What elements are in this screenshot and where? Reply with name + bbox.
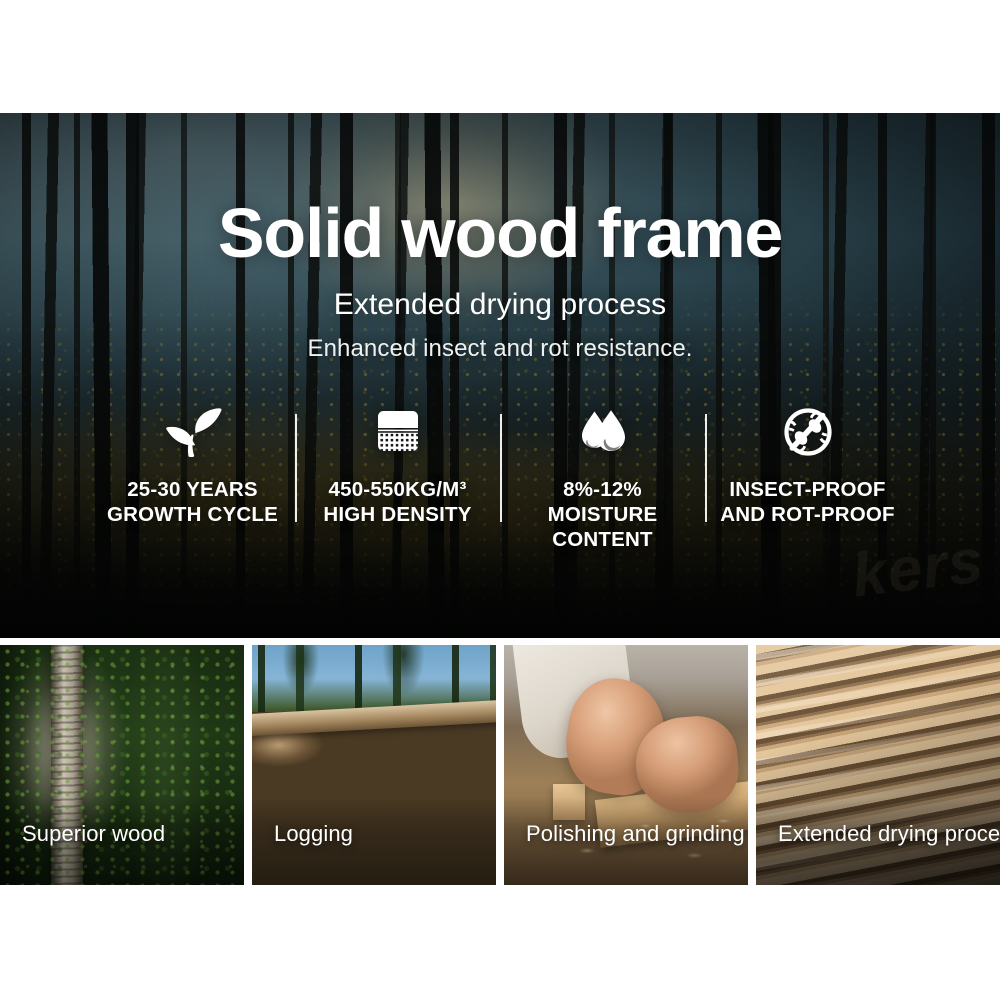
feature-line-2: MOISTURE CONTENT (500, 502, 705, 552)
feature-line-1: 450-550KG/M³ (329, 478, 467, 501)
feature-text: INSECT-PROOF AND ROT-PROOF (720, 477, 895, 527)
hero-subtitle: Extended drying process (0, 288, 1000, 322)
feature-line-2: HIGH DENSITY (323, 502, 471, 527)
feature-text: 450-550KG/M³ HIGH DENSITY (323, 477, 471, 527)
hero-copy: Solid wood frame Extended drying process… (0, 113, 1000, 363)
gallery-caption-text: Polishing and grinding (526, 821, 745, 847)
feature-line-1: 25-30 YEARS (127, 478, 258, 501)
gallery-caption: Superior wood (0, 797, 244, 885)
feature-line-2: GROWTH CYCLE (107, 502, 278, 527)
feature-high-density: 450-550KG/M³ HIGH DENSITY (295, 401, 500, 527)
gallery-caption-text: Superior wood (22, 821, 165, 847)
water-droplets-icon (574, 401, 632, 463)
hero-title: Solid wood frame (0, 198, 1000, 268)
feature-moisture-content: 8%-12% MOISTURE CONTENT (500, 401, 705, 552)
gallery-tile-drying: Extended drying process (756, 645, 1000, 885)
feature-text: 25-30 YEARS GROWTH CYCLE (107, 477, 278, 527)
feature-insect-rot-proof: INSECT-PROOF AND ROT-PROOF (705, 401, 910, 527)
hero-description: Enhanced insect and rot resistance. (0, 335, 1000, 363)
infographic-banner: kers Solid wood frame Extended drying pr… (0, 0, 1000, 1000)
gallery-tile-logging: Logging (252, 645, 496, 885)
feature-row: 25-30 YEARS GROWTH CYCLE (0, 401, 1000, 552)
gallery-caption-text: Extended drying process (778, 821, 1000, 847)
mattress-density-icon (369, 401, 427, 463)
hero-section: kers Solid wood frame Extended drying pr… (0, 113, 1000, 638)
gallery-caption-text: Logging (274, 821, 353, 847)
gallery-caption: Logging (252, 797, 496, 885)
feature-line-1: 8%-12% (563, 478, 642, 501)
gallery-strip: Superior wood Logging Pol (0, 645, 1000, 885)
feature-text: 8%-12% MOISTURE CONTENT (500, 477, 705, 552)
gallery-caption: Polishing and grinding (504, 797, 748, 885)
gallery-caption: Extended drying process (756, 797, 1000, 885)
no-insect-icon (780, 401, 836, 463)
feature-line-1: INSECT-PROOF (729, 478, 885, 501)
feature-growth-cycle: 25-30 YEARS GROWTH CYCLE (90, 401, 295, 527)
gallery-tile-polishing: Polishing and grinding (504, 645, 748, 885)
feature-line-2: AND ROT-PROOF (720, 502, 895, 527)
sprout-leaf-icon (164, 401, 222, 463)
gallery-tile-superior-wood: Superior wood (0, 645, 244, 885)
